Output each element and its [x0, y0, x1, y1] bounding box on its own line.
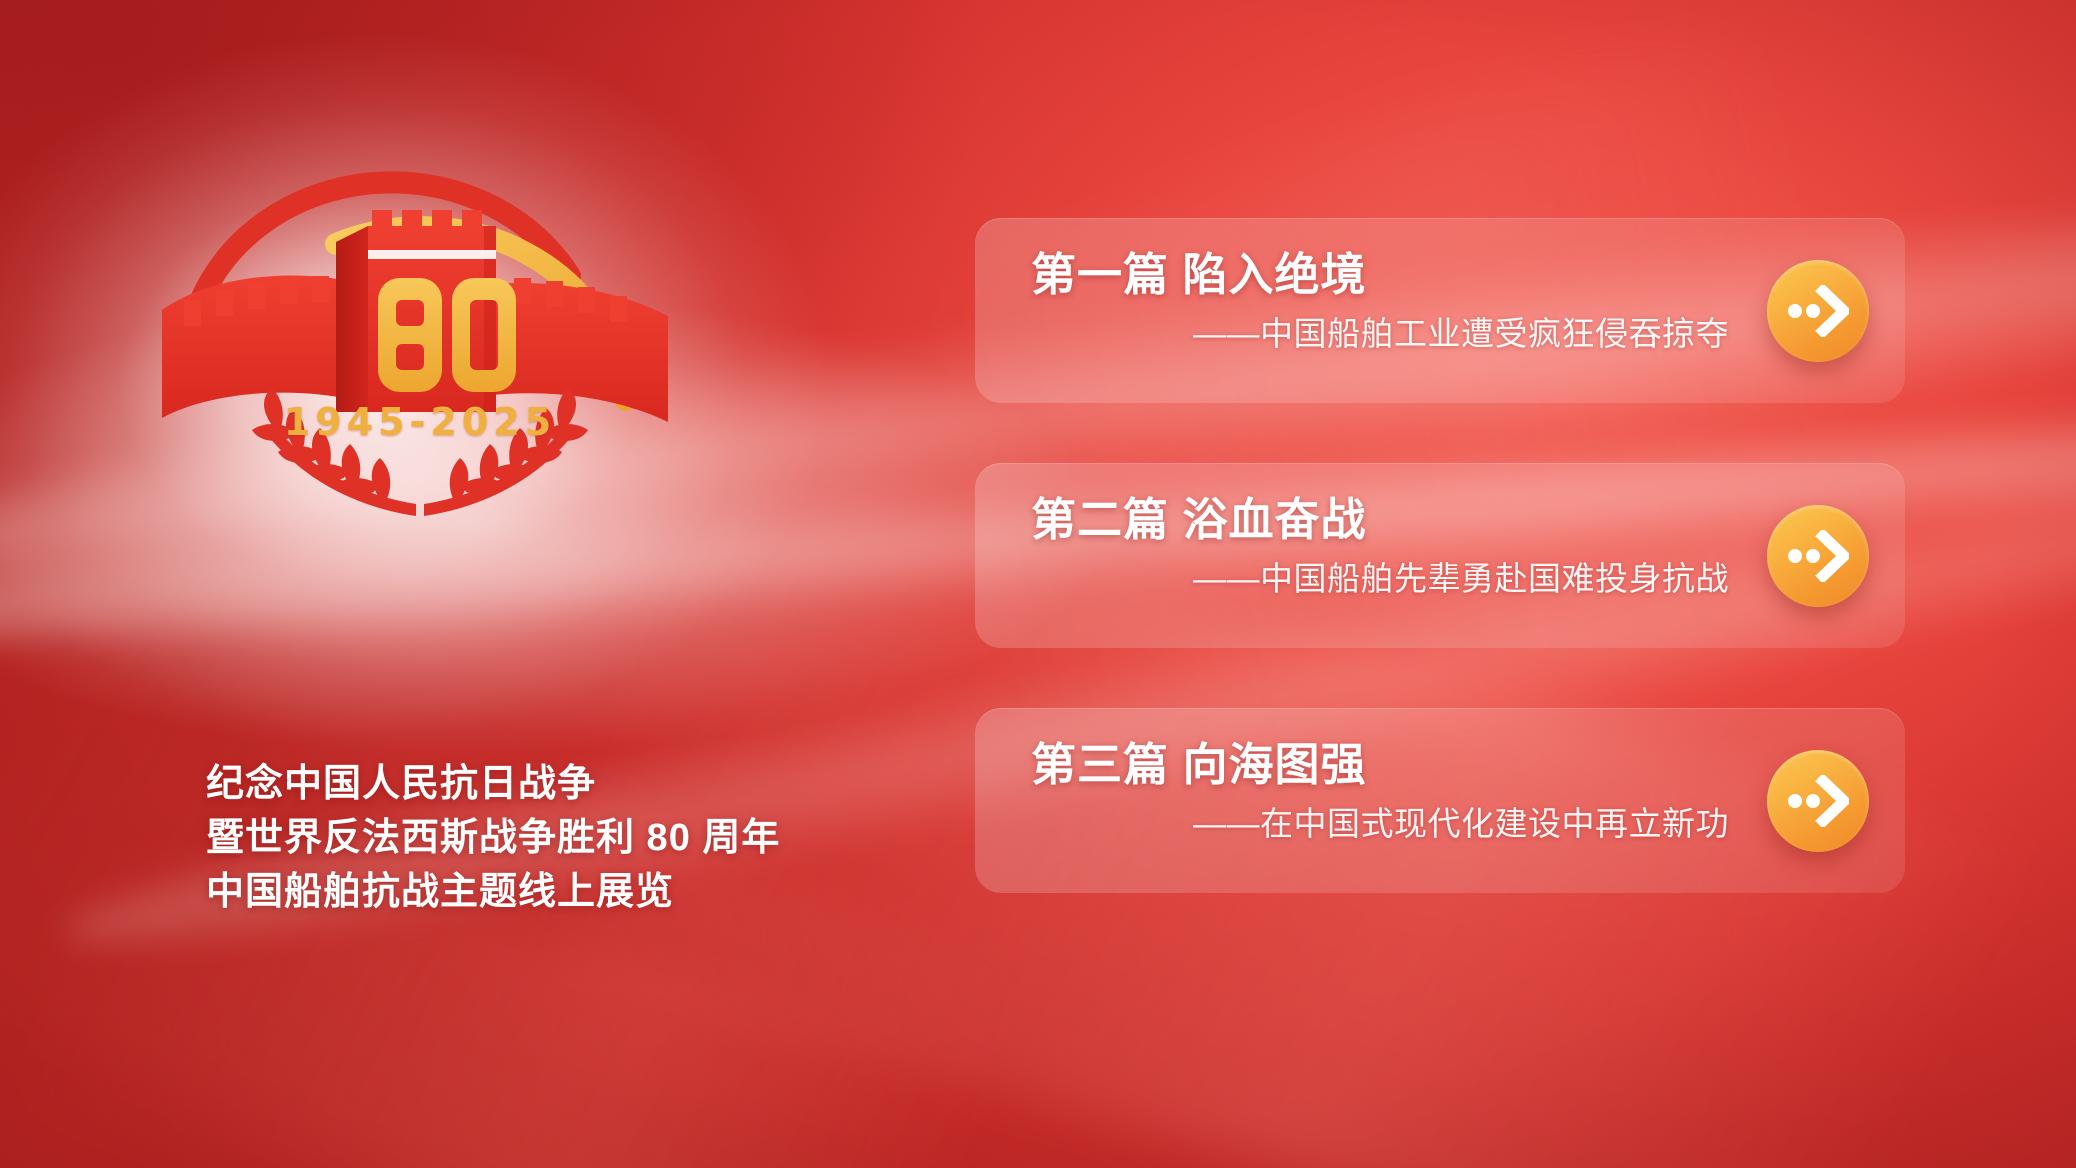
arrow-right-icon — [1787, 285, 1849, 337]
chapter-card-1[interactable]: 第一篇 陷入绝境 ——中国船舶工业遭受疯狂侵吞掠夺 — [975, 218, 1905, 403]
arrow-right-icon — [1787, 775, 1849, 827]
anniversary-emblem — [140, 100, 700, 540]
chapter-card-1-text: 第一篇 陷入绝境 ——中国船舶工业遭受疯狂侵吞掠夺 — [1031, 248, 1735, 354]
chapter-card-3-text: 第三篇 向海图强 ——在中国式现代化建设中再立新功 — [1031, 738, 1735, 844]
chapter-card-1-title: 第一篇 陷入绝境 — [1031, 248, 1735, 302]
chapter-3-enter-button[interactable] — [1767, 750, 1869, 852]
emblem-date-range: 1945-2025 — [140, 400, 700, 444]
chapter-card-1-subtitle: ——中国船舶工业遭受疯狂侵吞掠夺 — [1031, 314, 1735, 354]
chapter-card-2-subtitle: ——中国船舶先辈勇赴国难投身抗战 — [1031, 559, 1735, 599]
chapter-card-3-title: 第三篇 向海图强 — [1031, 738, 1735, 792]
chapter-2-enter-button[interactable] — [1767, 505, 1869, 607]
chapter-card-list: 第一篇 陷入绝境 ——中国船舶工业遭受疯狂侵吞掠夺 第二篇 浴血奋战 ——中国船… — [975, 218, 1905, 893]
chapter-card-3-subtitle: ——在中国式现代化建设中再立新功 — [1031, 804, 1735, 844]
chapter-card-2-text: 第二篇 浴血奋战 ——中国船舶先辈勇赴国难投身抗战 — [1031, 493, 1735, 599]
poster-canvas: 1945-2025 纪念中国人民抗日战争 暨世界反法西斯战争胜利 80 周年 中… — [0, 0, 2076, 1168]
chapter-card-2[interactable]: 第二篇 浴血奋战 ——中国船舶先辈勇赴国难投身抗战 — [975, 463, 1905, 648]
chapter-1-enter-button[interactable] — [1767, 260, 1869, 362]
headline-line-3: 中国船舶抗战主题线上展览 — [206, 866, 780, 920]
headline-line-2: 暨世界反法西斯战争胜利 80 周年 — [206, 812, 780, 866]
arrow-right-icon — [1787, 530, 1849, 582]
chapter-card-2-title: 第二篇 浴血奋战 — [1031, 493, 1735, 547]
exhibition-headline: 纪念中国人民抗日战争 暨世界反法西斯战争胜利 80 周年 中国船舶抗战主题线上展… — [206, 758, 780, 920]
headline-line-1: 纪念中国人民抗日战争 — [206, 758, 780, 812]
chapter-card-3[interactable]: 第三篇 向海图强 ——在中国式现代化建设中再立新功 — [975, 708, 1905, 893]
